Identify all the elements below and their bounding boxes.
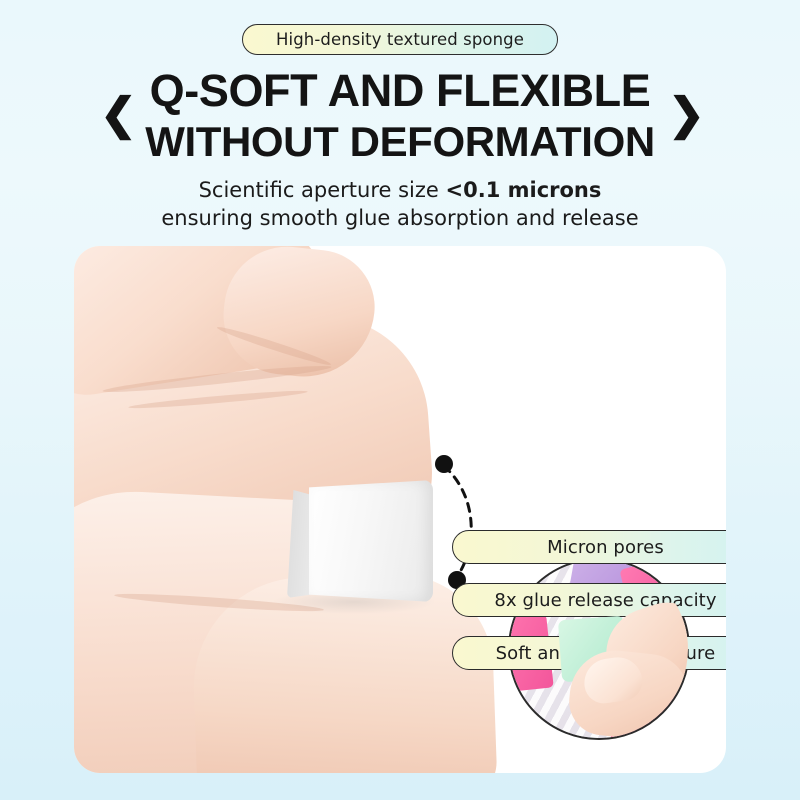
subtitle-line-2: ensuring smooth glue absorption and rele…	[0, 204, 800, 232]
top-badge: High-density textured sponge	[242, 24, 558, 55]
headline: Q-SOFT AND FLEXIBLE WITHOUT DEFORMATION	[0, 68, 800, 163]
feature-pill-1-label: Micron pores	[547, 537, 664, 558]
headline-line-1: Q-SOFT AND FLEXIBLE	[0, 68, 800, 113]
subtitle-line-1: Scientific aperture size <0.1 microns	[0, 176, 800, 204]
headline-line-2: WITHOUT DEFORMATION	[0, 121, 800, 163]
subtitle-prefix: Scientific aperture size	[199, 178, 446, 202]
bend-indicator-icon	[426, 452, 496, 592]
product-photo-card: Micron pores 8x glue release capacity So…	[74, 246, 726, 773]
feature-pill-1: Micron pores	[452, 530, 726, 564]
top-badge-label: High-density textured sponge	[276, 30, 524, 49]
subtitle: Scientific aperture size <0.1 microns en…	[0, 176, 800, 233]
subtitle-emphasis: <0.1 microns	[446, 178, 602, 202]
sponge-front-face	[309, 480, 433, 602]
product-infographic: High-density textured sponge ❮ ❯ Q-SOFT …	[0, 0, 800, 800]
white-sponge	[287, 480, 433, 602]
